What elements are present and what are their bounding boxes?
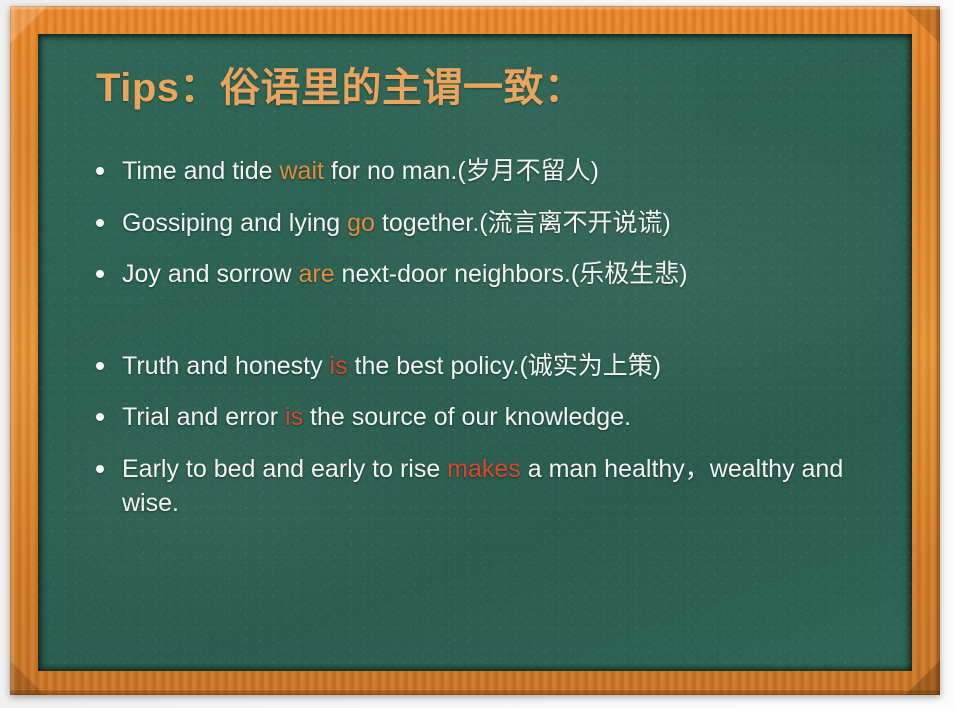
list-item: Joy and sorrow are next-door neighbors.(… <box>74 257 886 292</box>
list-item-text: Early to bed and early to rise <box>122 455 447 483</box>
list-item: Trial and error is the source of our kno… <box>74 400 886 435</box>
list-item-highlight: are <box>298 260 334 288</box>
list-item-text: the best policy.(诚实为上策) <box>348 352 662 380</box>
tips-bullet-list: Time and tide wait for no man.(岁月不留人)Gos… <box>74 154 886 521</box>
list-item-highlight: is <box>285 403 303 431</box>
list-item-highlight: is <box>330 352 348 380</box>
list-item: Gossiping and lying go together.(流言离不开说谎… <box>74 206 886 241</box>
bullet-dot-icon <box>96 270 104 278</box>
wooden-frame: Tips：俗语里的主谓一致： Time and tide wait for no… <box>10 6 940 695</box>
bullet-dot-icon <box>96 413 104 421</box>
list-item: Time and tide wait for no man.(岁月不留人) <box>74 154 886 189</box>
bullet-dot-icon <box>96 362 104 370</box>
list-item-highlight: wait <box>279 157 323 185</box>
list-item-text: the source of our knowledge. <box>303 403 631 431</box>
bullet-dot-icon <box>96 219 104 227</box>
chalkboard: Tips：俗语里的主谓一致： Time and tide wait for no… <box>38 34 912 671</box>
list-item-highlight: makes <box>447 455 521 483</box>
list-item-text: Joy and sorrow <box>122 260 298 288</box>
list-item-text: next-door neighbors.(乐极生悲) <box>335 260 688 288</box>
list-item-text: together.(流言离不开说谎) <box>375 209 671 237</box>
list-item-text: for no man.(岁月不留人) <box>324 157 599 185</box>
list-item-highlight: go <box>347 209 375 237</box>
list-item-text: Gossiping and lying <box>122 209 347 237</box>
slide-canvas: Tips：俗语里的主谓一致： Time and tide wait for no… <box>0 0 954 708</box>
list-item-text: Truth and honesty <box>122 352 330 380</box>
list-item-text: Trial and error <box>122 403 285 431</box>
page-title: Tips：俗语里的主谓一致： <box>96 66 886 110</box>
bullet-dot-icon <box>96 465 104 473</box>
list-item: Truth and honesty is the best policy.(诚实… <box>74 349 886 384</box>
bullet-dot-icon <box>96 167 104 175</box>
list-item: Early to bed and early to rise makes a m… <box>74 452 886 521</box>
list-item-text: Time and tide <box>122 157 279 185</box>
